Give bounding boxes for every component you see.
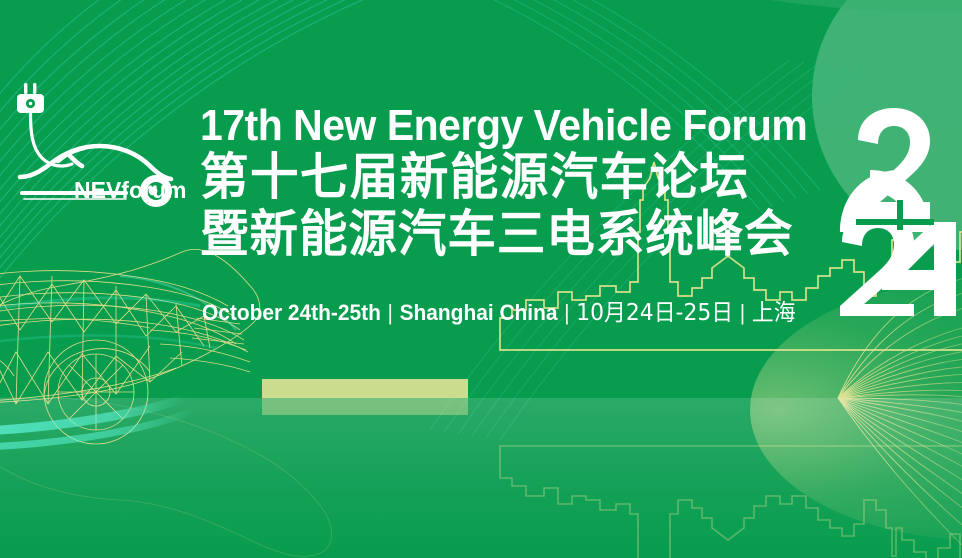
car-silhouette-icon	[20, 146, 171, 179]
chinese-title-line-1: 第十七届新能源汽车论坛	[200, 149, 821, 206]
year-badge-svg	[838, 104, 962, 316]
chinese-title-line-2: 暨新能源汽车三电系统峰会	[200, 206, 821, 263]
dateline: October 24th-25th|Shanghai China|10月24日-…	[202, 300, 796, 326]
location-chinese: 上海	[752, 300, 796, 326]
nevforum-logo[interactable]: NEVforum	[8, 78, 186, 218]
logo-wordmark: NEVforum	[74, 177, 186, 203]
year-badge-2024	[838, 104, 962, 316]
charging-plug-icon	[17, 83, 44, 113]
headline-block: 17th New Energy Vehicle Forum 第十七届新能源汽车论…	[200, 103, 840, 263]
charging-cable	[31, 113, 73, 166]
dateline-separator-2: |	[558, 300, 577, 325]
english-title: 17th New Energy Vehicle Forum	[200, 103, 795, 149]
event-poster: NEVforum 17th New Energy Vehicle Forum 第…	[0, 0, 962, 558]
water-reflection-band	[0, 398, 962, 558]
location-english: Shanghai China	[400, 300, 558, 325]
date-chinese: 10月24日-25日	[576, 300, 733, 326]
dateline-separator-1: |	[381, 300, 400, 325]
nevforum-logo-icon: NEVforum	[8, 78, 186, 218]
dateline-separator-3: |	[733, 300, 752, 325]
date-english: October 24th-25th	[202, 300, 381, 325]
